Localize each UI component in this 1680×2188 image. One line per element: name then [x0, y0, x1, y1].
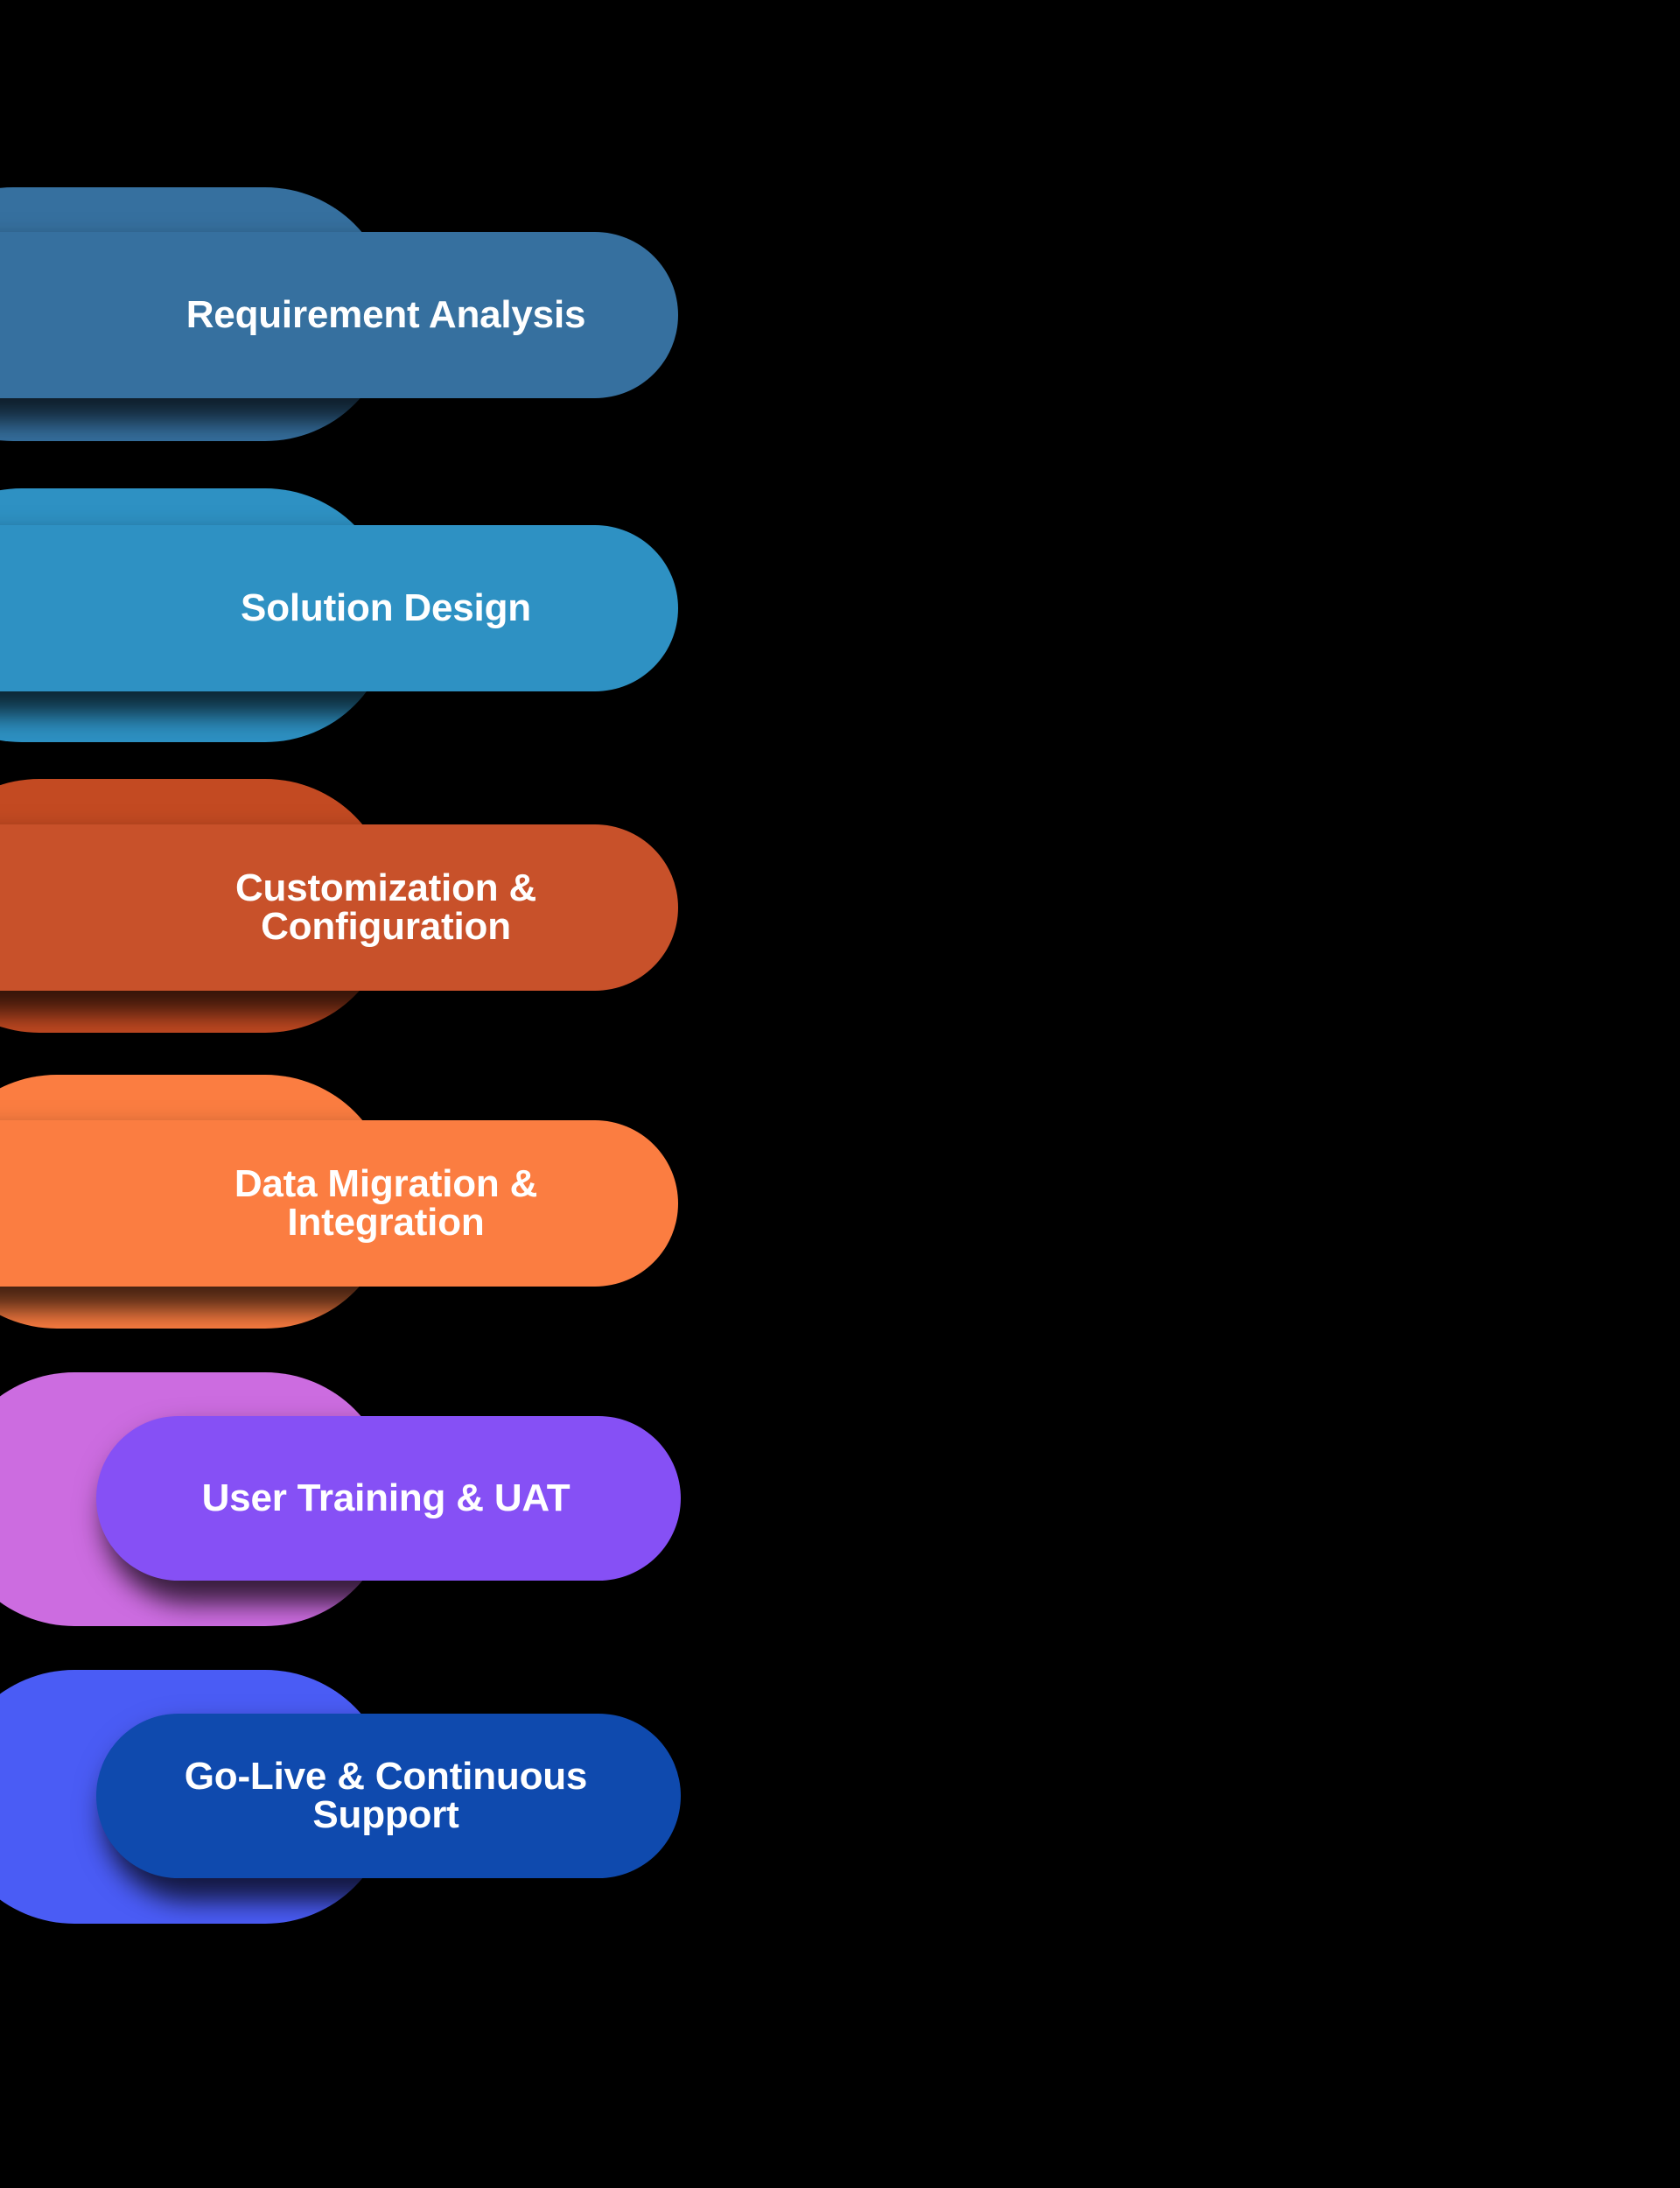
step-front-pill[interactable]: User Training & UAT: [96, 1416, 681, 1581]
diagram-canvas: Requirement AnalysisSolution DesignCusto…: [0, 0, 1680, 2188]
step-label: Data Migration & Integration: [219, 1165, 553, 1242]
step-label: Go-Live & Continuous Support: [169, 1757, 603, 1834]
step-label: Solution Design: [225, 589, 547, 628]
step-front-pill[interactable]: Data Migration & Integration: [0, 1120, 678, 1287]
step-front-pill[interactable]: Go-Live & Continuous Support: [96, 1714, 681, 1878]
step-front-pill[interactable]: Solution Design: [0, 525, 678, 691]
step-label: Customization & Configuration: [220, 869, 552, 946]
step-label: User Training & UAT: [186, 1479, 586, 1518]
step-label: Requirement Analysis: [171, 296, 602, 334]
step-front-pill[interactable]: Customization & Configuration: [0, 824, 678, 991]
step-front-pill[interactable]: Requirement Analysis: [0, 232, 678, 398]
